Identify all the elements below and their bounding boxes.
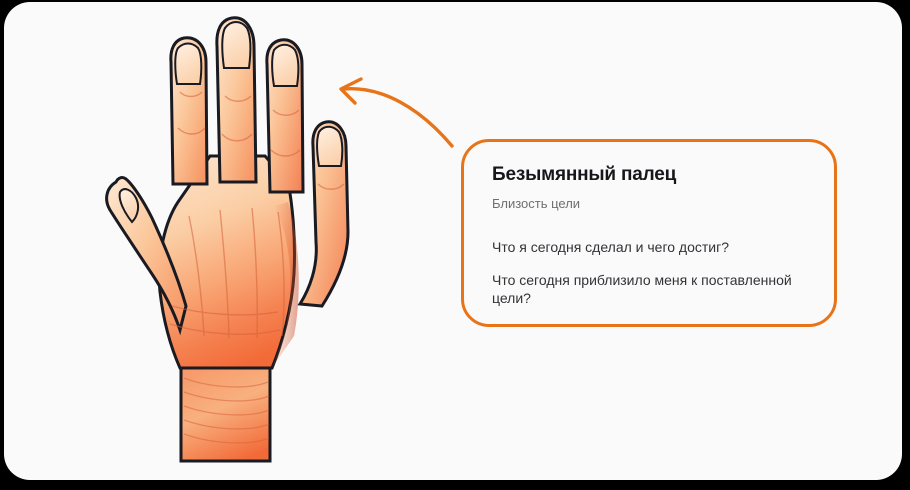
page-card: Безымянный палец Близость цели Что я сег… xyxy=(4,2,902,480)
card-question: Что сегодня приблизило меня к поставленн… xyxy=(492,271,806,309)
card-question-list: Что я сегодня сделал и чего достиг? Что … xyxy=(492,238,806,309)
annotation-card: Безымянный палец Близость цели Что я сег… xyxy=(461,139,837,327)
middle-nail xyxy=(222,22,250,68)
card-question: Что я сегодня сделал и чего достиг? xyxy=(492,238,806,257)
little-nail xyxy=(317,127,342,166)
ring-nail xyxy=(272,45,298,86)
card-title: Безымянный палец xyxy=(492,164,806,187)
screen-root: Безымянный палец Близость цели Что я сег… xyxy=(0,0,910,490)
wrist xyxy=(181,362,270,461)
card-subtitle: Близость цели xyxy=(492,196,806,213)
hand-back-view-illustration xyxy=(60,6,380,466)
hand-shape xyxy=(107,18,348,461)
index-nail xyxy=(175,44,201,85)
